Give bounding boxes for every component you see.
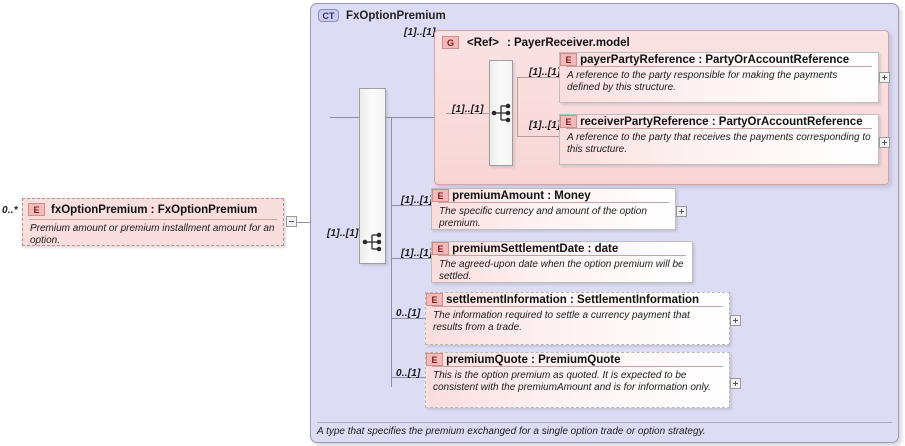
- root-element-box[interactable]: E fxOptionPremium : FxOptionPremium Prem…: [22, 198, 284, 246]
- element-description: This is the option premium as quoted. It…: [426, 367, 729, 398]
- element-description: The information required to settle a cur…: [426, 307, 729, 338]
- element-box-receiverPartyReference[interactable]: E receiverPartyReference : PartyOrAccoun…: [559, 114, 879, 165]
- group-ref-label: <Ref>: [467, 37, 499, 49]
- element-description: The specific currency and amount of the …: [432, 203, 675, 234]
- element-title: E premiumSettlementDate : date: [432, 242, 692, 255]
- expand-plus-icon[interactable]: [879, 137, 890, 148]
- element-title: E settlementInformation : SettlementInfo…: [426, 293, 729, 306]
- complextype-badge-icon: CT: [318, 9, 339, 22]
- expand-plus-icon[interactable]: [730, 315, 741, 326]
- element-title: E premiumQuote : PremiumQuote: [426, 353, 729, 366]
- element-box-premiumAmount[interactable]: E premiumAmount : Money The specific cur…: [431, 188, 676, 230]
- element-description: A reference to the party responsible for…: [560, 67, 878, 98]
- element-box-premiumSettlementDate[interactable]: E premiumSettlementDate : date The agree…: [431, 241, 693, 283]
- element-name: receiverPartyReference : PartyOrAccountR…: [580, 116, 863, 128]
- element-title: E payerPartyReference : PartyOrAccountRe…: [560, 53, 878, 66]
- element-name: premiumAmount : Money: [452, 190, 591, 202]
- connector-line: [330, 117, 360, 118]
- element-description: A reference to the party that receives t…: [560, 129, 878, 160]
- receiver-cardinality: [1]..[1]: [529, 120, 561, 131]
- element-name: premiumQuote : PremiumQuote: [446, 354, 620, 366]
- element-badge-icon: E: [426, 353, 443, 366]
- element-badge-icon: E: [426, 293, 443, 306]
- element-box-premiumQuote[interactable]: E premiumQuote : PremiumQuote This is th…: [425, 352, 730, 408]
- element-badge-icon: E: [560, 53, 577, 66]
- element-badge-icon: E: [432, 242, 449, 255]
- element-name: settlementInformation : SettlementInform…: [446, 294, 699, 306]
- root-element-name: fxOptionPremium : FxOptionPremium: [51, 204, 257, 216]
- complextype-footer-description: A type that specifies the premium exchan…: [317, 422, 892, 437]
- root-element-title: E fxOptionPremium : FxOptionPremium: [23, 199, 283, 219]
- premiumSettlementDate-cardinality: [1]..[1]: [401, 248, 433, 259]
- payer-cardinality: [1]..[1]: [529, 67, 561, 78]
- expand-plus-icon[interactable]: [879, 72, 890, 83]
- sequence-cardinality: [1]..[1]: [327, 228, 359, 239]
- connector-line: [297, 222, 311, 223]
- element-badge-icon: E: [560, 115, 577, 128]
- settlementInformation-cardinality: 0..[1]: [396, 308, 421, 319]
- root-cardinality: 0..*: [2, 205, 18, 216]
- element-badge-icon: E: [432, 189, 449, 202]
- element-description: The agreed-upon date when the option pre…: [432, 256, 692, 287]
- expand-plus-icon[interactable]: [730, 378, 741, 389]
- element-name: premiumSettlementDate : date: [452, 243, 618, 255]
- complextype-title: FxOptionPremium: [346, 10, 446, 22]
- sequence-icon: [362, 231, 388, 253]
- connector-line: [517, 136, 559, 137]
- connector-line: [517, 77, 518, 136]
- group-badge-icon: G: [442, 36, 459, 49]
- complextype-header: CT FxOptionPremium: [311, 4, 898, 22]
- group-header: G <Ref> : PayerReceiver.model: [435, 31, 888, 49]
- premiumAmount-cardinality: [1]..[1]: [401, 195, 433, 206]
- expand-plus-icon[interactable]: [676, 206, 687, 217]
- element-box-settlementInformation[interactable]: E settlementInformation : SettlementInfo…: [425, 292, 730, 345]
- schema-diagram-canvas: 0..* E fxOptionPremium : FxOptionPremium…: [0, 0, 905, 446]
- collapse-minus-icon[interactable]: [286, 216, 297, 227]
- element-name: payerPartyReference : PartyOrAccountRefe…: [580, 54, 849, 66]
- connector-line: [391, 117, 392, 387]
- element-badge-icon: E: [28, 203, 45, 216]
- sequence-icon: [491, 102, 517, 124]
- element-box-payerPartyReference[interactable]: E payerPartyReference : PartyOrAccountRe…: [559, 52, 879, 103]
- root-element-description: Premium amount or premium installment am…: [23, 220, 283, 251]
- group-sequence-cardinality: [1]..[1]: [452, 104, 484, 115]
- connector-line: [386, 117, 434, 118]
- element-title: E premiumAmount : Money: [432, 189, 675, 202]
- element-title: E receiverPartyReference : PartyOrAccoun…: [560, 115, 878, 128]
- premiumQuote-cardinality: 0..[1]: [396, 368, 421, 379]
- group-cardinality: [1]..[1]: [404, 27, 436, 38]
- group-name: : PayerReceiver.model: [507, 37, 630, 49]
